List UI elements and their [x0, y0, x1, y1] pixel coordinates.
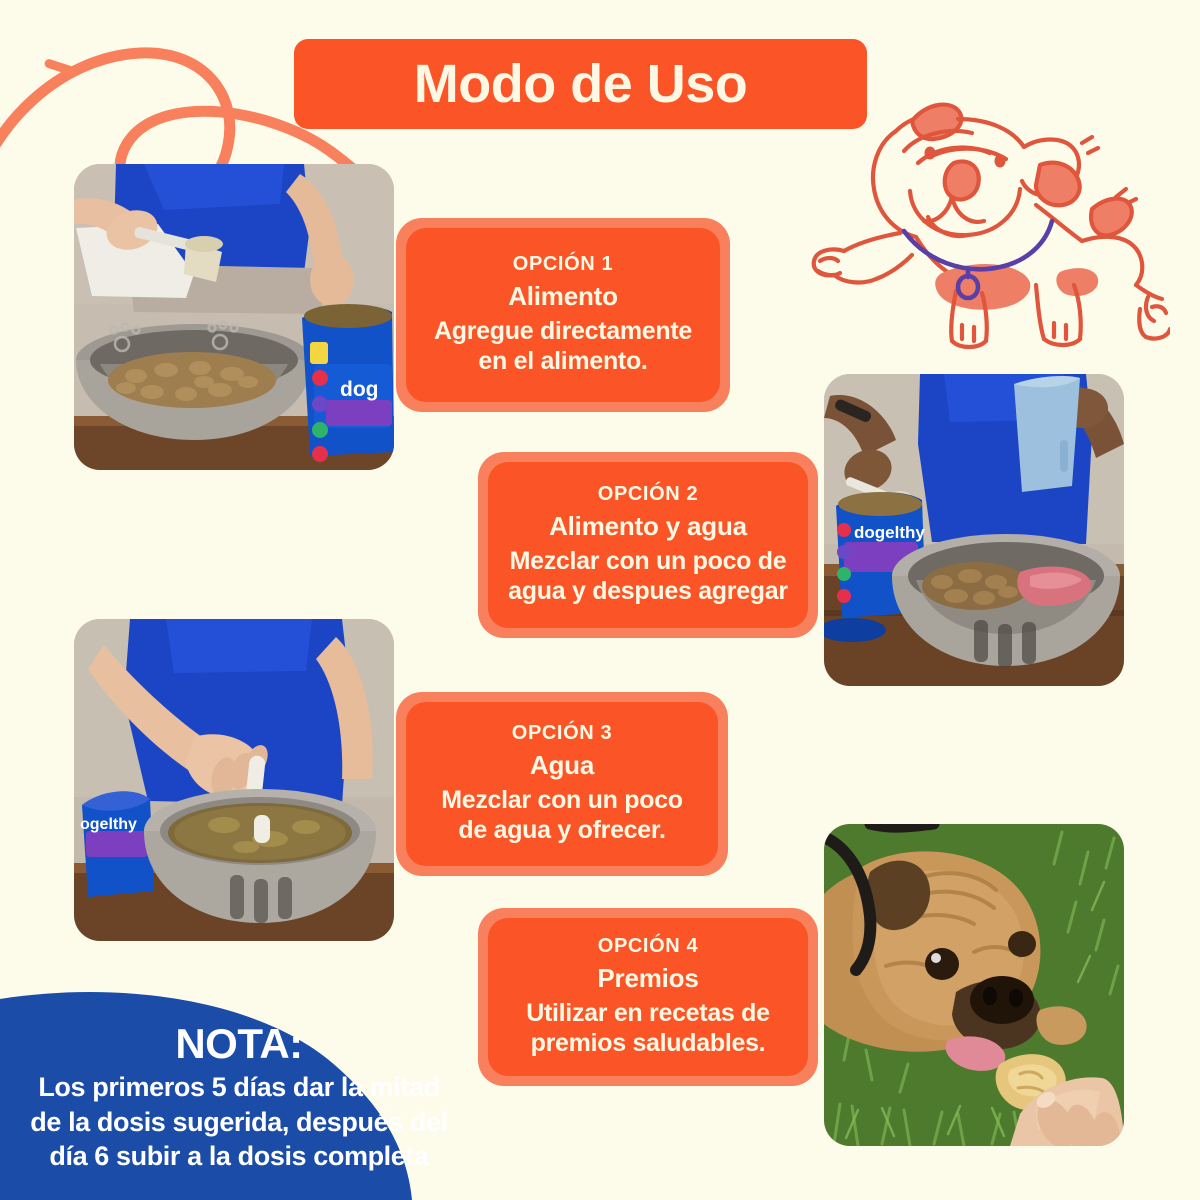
note-body-line: de la dosis sugerida, después del: [0, 1105, 478, 1140]
infographic-page: Modo de Uso: [0, 0, 1200, 1200]
option-3-kicker: OPCIÓN 3: [512, 722, 612, 745]
option-card-1: OPCIÓN 1 Alimento Agregue directamente e…: [396, 218, 730, 412]
svg-text:ogelthy: ogelthy: [80, 816, 137, 833]
dash-icon: [43, 58, 78, 77]
option-4-desc-line: Utilizar en recetas de: [526, 998, 770, 1029]
note-body: Los primeros 5 días dar la mitad de la d…: [0, 1070, 478, 1174]
note-block: NOTA: Los primeros 5 días dar la mitad d…: [0, 1022, 478, 1174]
option-card-1-inner: OPCIÓN 1 Alimento Agregue directamente e…: [406, 228, 720, 402]
option-card-3: OPCIÓN 3 Agua Mezclar con un poco de agu…: [396, 692, 728, 876]
option-card-2: OPCIÓN 2 Alimento y agua Mezclar con un …: [478, 452, 818, 638]
bulldog-line-art-icon: [800, 85, 1170, 355]
page-title-banner: Modo de Uso: [294, 39, 867, 129]
option-card-3-inner: OPCIÓN 3 Agua Mezclar con un poco de agu…: [406, 702, 718, 866]
photo-scoop-into-kibble-bowl: dog: [74, 164, 394, 470]
note-body-line: día 6 subir a la dosis completa: [0, 1139, 478, 1174]
option-3-description: Mezclar con un poco de agua y ofrecer.: [441, 785, 683, 846]
note-body-line: Los primeros 5 días dar la mitad: [0, 1070, 478, 1105]
option-4-kicker: OPCIÓN 4: [598, 935, 698, 958]
option-3-desc-line: de agua y ofrecer.: [441, 815, 683, 846]
option-2-desc-line: Mezclar con un poco de: [508, 546, 788, 577]
option-1-desc-line: en el alimento.: [434, 346, 692, 377]
option-2-title: Alimento y agua: [549, 512, 747, 542]
option-1-desc-line: Agregue directamente: [434, 316, 692, 347]
option-card-2-inner: OPCIÓN 2 Alimento y agua Mezclar con un …: [488, 462, 808, 628]
option-4-desc-line: premios saludables.: [526, 1028, 770, 1059]
option-1-description: Agregue directamente en el alimento.: [434, 316, 692, 377]
option-2-desc-line: agua y despues agregar: [508, 576, 788, 607]
option-1-title: Alimento: [508, 282, 618, 312]
note-heading: NOTA:: [0, 1022, 478, 1066]
option-1-kicker: OPCIÓN 1: [513, 253, 613, 276]
photo-stirring-water-bowl: ogelthy: [74, 619, 394, 941]
option-4-title: Premios: [597, 964, 698, 994]
svg-text:dog: dog: [340, 378, 378, 401]
svg-text:dogelthy: dogelthy: [854, 523, 925, 542]
option-3-title: Agua: [530, 751, 594, 781]
option-3-desc-line: Mezclar con un poco: [441, 785, 683, 816]
photo-dog-receiving-treat: [824, 824, 1124, 1146]
photo-kibble-and-meat-bowl: dogelthy: [824, 374, 1124, 686]
option-4-description: Utilizar en recetas de premios saludable…: [526, 998, 770, 1059]
option-2-description: Mezclar con un poco de agua y despues ag…: [508, 546, 788, 607]
page-title: Modo de Uso: [414, 57, 747, 111]
option-2-kicker: OPCIÓN 2: [598, 483, 698, 506]
